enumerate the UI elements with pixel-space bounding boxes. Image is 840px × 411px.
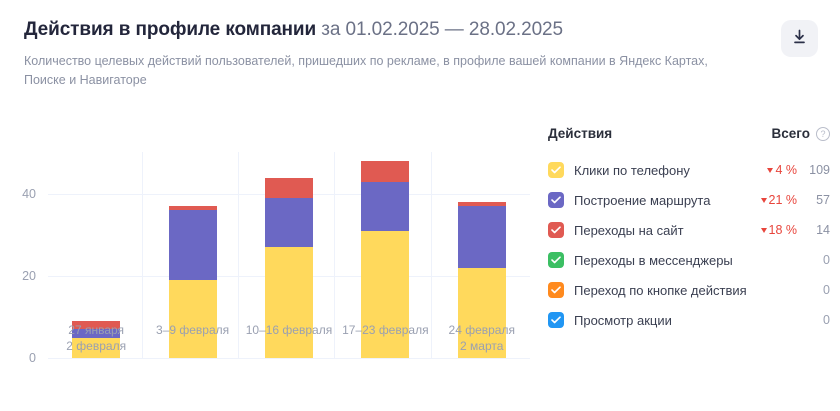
legend-col-actions: Действия bbox=[548, 126, 612, 141]
xtick-line1: 3–9 февраля bbox=[156, 323, 229, 337]
bar-segment-site-visits bbox=[265, 178, 313, 199]
legend-checkbox[interactable] bbox=[548, 162, 564, 178]
legend-checkbox[interactable] bbox=[548, 282, 564, 298]
question-mark-icon[interactable]: ? bbox=[816, 127, 830, 141]
download-button[interactable] bbox=[781, 20, 818, 57]
title-date-range: за 01.02.2025 — 28.02.2025 bbox=[321, 19, 563, 40]
xtick-label: 27 января 2 февраля bbox=[53, 322, 140, 354]
legend-total-value: 109 bbox=[804, 163, 830, 177]
legend-item-label: Построение маршрута bbox=[574, 193, 761, 208]
legend-item-label: Переход по кнопке действия bbox=[574, 283, 804, 298]
legend-delta: 21 % bbox=[761, 193, 798, 207]
xtick-line2: 2 февраля bbox=[53, 338, 140, 354]
ytick-label-20: 20 bbox=[22, 269, 36, 283]
card-header: Действия в профиле компании за 01.02.202… bbox=[24, 18, 764, 90]
title-main: Действия в профиле компании bbox=[24, 19, 316, 40]
analytics-chart-card: Действия в профиле компании за 01.02.202… bbox=[0, 0, 840, 411]
bar-segment-routes bbox=[265, 198, 313, 247]
ytick-label-0: 0 bbox=[29, 351, 36, 365]
legend-delta-value: 18 % bbox=[769, 223, 798, 237]
legend: Действия Всего ? Клики по телефону 4 % 1… bbox=[548, 126, 830, 335]
legend-item-action-button[interactable]: Переход по кнопке действия 0 bbox=[548, 275, 830, 305]
legend-delta-value: 21 % bbox=[769, 193, 798, 207]
card-subtitle: Количество целевых действий пользователе… bbox=[24, 52, 714, 90]
legend-total-value: 57 bbox=[804, 193, 830, 207]
legend-checkbox[interactable] bbox=[548, 252, 564, 268]
legend-item-label: Переходы на сайт bbox=[574, 223, 761, 238]
xtick-line1: 10–16 февраля bbox=[246, 323, 332, 337]
bar-segment-routes bbox=[361, 182, 409, 231]
legend-item-label: Клики по телефону bbox=[574, 163, 767, 178]
legend-total-value: 0 bbox=[804, 313, 830, 327]
bar-segment-site-visits bbox=[361, 161, 409, 182]
triangle-down-icon bbox=[767, 168, 773, 173]
legend-col-total-group: Всего ? bbox=[772, 126, 830, 141]
bar-segment-routes bbox=[169, 210, 217, 280]
legend-item-messengers[interactable]: Переходы в мессенджеры 0 bbox=[548, 245, 830, 275]
legend-checkbox[interactable] bbox=[548, 192, 564, 208]
bar-segment-routes bbox=[458, 206, 506, 268]
triangle-down-icon bbox=[761, 228, 767, 233]
legend-delta: 4 % bbox=[767, 163, 797, 177]
legend-checkbox[interactable] bbox=[548, 312, 564, 328]
legend-item-site-visits[interactable]: Переходы на сайт 18 % 14 bbox=[548, 215, 830, 245]
legend-delta-value: 4 % bbox=[775, 163, 797, 177]
legend-item-routes[interactable]: Построение маршрута 21 % 57 bbox=[548, 185, 830, 215]
xtick-label: 3–9 февраля bbox=[149, 322, 236, 354]
x-axis-labels: 27 января 2 февраля 3–9 февраля 10–16 фе… bbox=[48, 322, 530, 354]
legend-item-promo-views[interactable]: Просмотр акции 0 bbox=[548, 305, 830, 335]
legend-item-phone-clicks[interactable]: Клики по телефону 4 % 109 bbox=[548, 155, 830, 185]
legend-item-label: Переходы в мессенджеры bbox=[574, 253, 804, 268]
download-icon bbox=[792, 29, 807, 48]
gridline-0: 0 bbox=[48, 358, 530, 359]
xtick-line2: 2 марта bbox=[438, 338, 525, 354]
xtick-line1: 24 февраля bbox=[449, 323, 515, 337]
xtick-label: 24 февраля 2 марта bbox=[438, 322, 525, 354]
xtick-line1: 17–23 февраля bbox=[342, 323, 428, 337]
triangle-down-icon bbox=[761, 198, 767, 203]
legend-item-label: Просмотр акции bbox=[574, 313, 804, 328]
xtick-line1: 27 января bbox=[68, 323, 124, 337]
chart: 40 20 0 bbox=[0, 140, 540, 405]
legend-col-total: Всего bbox=[772, 126, 810, 141]
legend-total-value: 0 bbox=[804, 253, 830, 267]
page-title: Действия в профиле компании за 01.02.202… bbox=[24, 18, 764, 42]
xtick-label: 10–16 февраля bbox=[246, 322, 333, 354]
legend-total-value: 0 bbox=[804, 283, 830, 297]
legend-header: Действия Всего ? bbox=[548, 126, 830, 141]
legend-checkbox[interactable] bbox=[548, 222, 564, 238]
legend-delta: 18 % bbox=[761, 223, 798, 237]
xtick-label: 17–23 февраля bbox=[342, 322, 429, 354]
ytick-label-40: 40 bbox=[22, 187, 36, 201]
legend-total-value: 14 bbox=[804, 223, 830, 237]
